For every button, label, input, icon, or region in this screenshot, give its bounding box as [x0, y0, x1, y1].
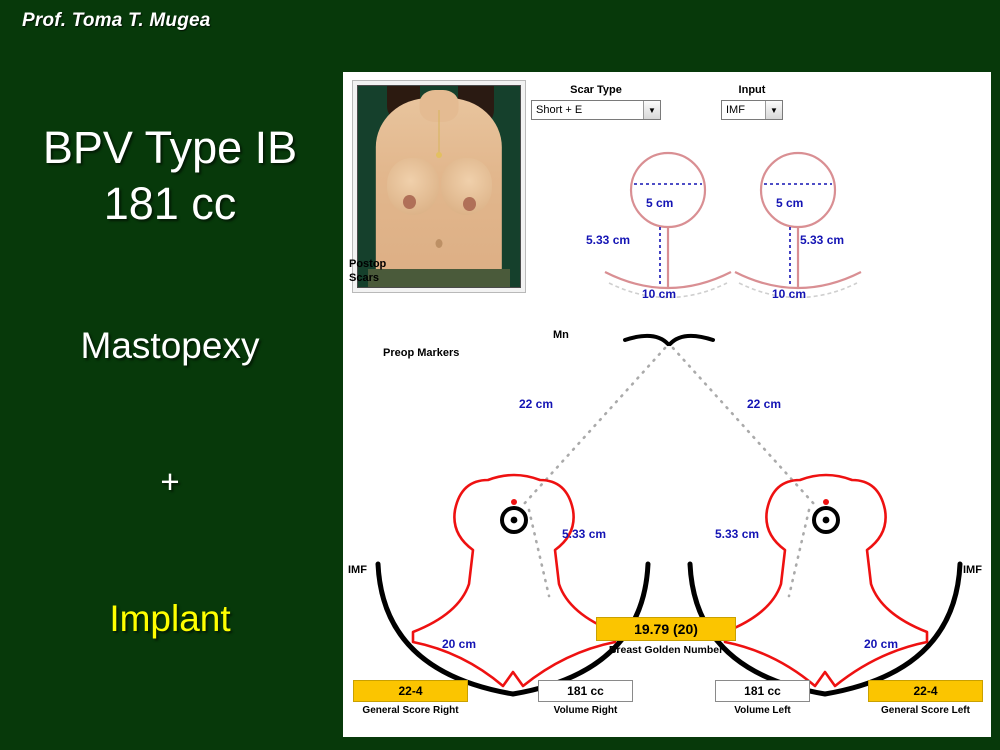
- volume-left-field: 181 cc Volume Left: [715, 680, 810, 716]
- golden-number-caption: Breast Golden Number: [596, 644, 736, 656]
- general-score-left-value[interactable]: 22-4: [868, 680, 983, 702]
- application-panel: Scar Type Short + E ▼ Input IMF ▼: [343, 72, 991, 737]
- volume-left-caption: Volume Left: [715, 705, 810, 716]
- preop-right-notch-to-nipple: 22 cm: [519, 397, 553, 411]
- postop-right-vertical-limb: 5.33 cm: [586, 233, 630, 247]
- sternal-notch-marker: [625, 336, 713, 344]
- postop-scar-right: [605, 153, 731, 298]
- golden-number-field: 19.79 (20) Breast Golden Number: [596, 617, 736, 656]
- caption-procedure-plus: +: [0, 458, 340, 506]
- preop-marking-right: [378, 475, 648, 694]
- preop-right-base-width: 20 cm: [442, 637, 476, 651]
- caption-procedure-line2: Implant: [0, 592, 340, 646]
- volume-right-caption: Volume Right: [538, 705, 633, 716]
- general-score-left-caption: General Score Left: [868, 705, 983, 716]
- slide-canvas: Prof. Toma T. Mugea BPV Type IB 181 cc M…: [0, 0, 1000, 750]
- sternal-notch-label: Mn: [553, 329, 569, 341]
- presenter-byline: Prof. Toma T. Mugea: [22, 10, 211, 32]
- preop-right-imf-label: IMF: [348, 564, 367, 576]
- preop-marking-left: [690, 475, 960, 694]
- postop-right-imf-scar: 10 cm: [642, 287, 676, 301]
- preop-left-notch-to-nipple: 22 cm: [747, 397, 781, 411]
- postop-left-imf-scar: 10 cm: [772, 287, 806, 301]
- measure-line-left-533cm: [789, 510, 809, 596]
- postop-scar-left: [735, 153, 861, 298]
- caption-title-line1: BPV Type IB: [0, 120, 340, 176]
- preop-right-vertical-limb: 5.33 cm: [562, 527, 606, 541]
- general-score-right-value[interactable]: 22-4: [353, 680, 468, 702]
- volume-right-field: 181 cc Volume Right: [538, 680, 633, 716]
- general-score-right-field: 22-4 General Score Right: [353, 680, 468, 716]
- postop-left-vertical-limb: 5.33 cm: [800, 233, 844, 247]
- caption-procedure-line1: Mastopexy: [0, 319, 340, 373]
- caption-title-line2: 181 cc: [0, 176, 340, 232]
- general-score-left-field: 22-4 General Score Left: [868, 680, 983, 716]
- slide-caption: BPV Type IB 181 cc Mastopexy + Implant: [0, 120, 340, 646]
- measure-line-right-533cm: [529, 510, 549, 596]
- postop-section-label-line1: Postop: [349, 258, 386, 270]
- postop-left-areola-diameter: 5 cm: [776, 196, 803, 210]
- preop-left-base-width: 20 cm: [864, 637, 898, 651]
- preop-section-label: Preop Markers: [383, 347, 459, 359]
- postop-right-areola-diameter: 5 cm: [646, 196, 673, 210]
- preop-left-imf-label: IMF: [963, 564, 982, 576]
- golden-number-value[interactable]: 19.79 (20): [596, 617, 736, 641]
- volume-left-value[interactable]: 181 cc: [715, 680, 810, 702]
- general-score-right-caption: General Score Right: [353, 705, 468, 716]
- preop-left-vertical-limb: 5.33 cm: [715, 527, 759, 541]
- postop-section-label-line2: Scars: [349, 272, 379, 284]
- volume-right-value[interactable]: 181 cc: [538, 680, 633, 702]
